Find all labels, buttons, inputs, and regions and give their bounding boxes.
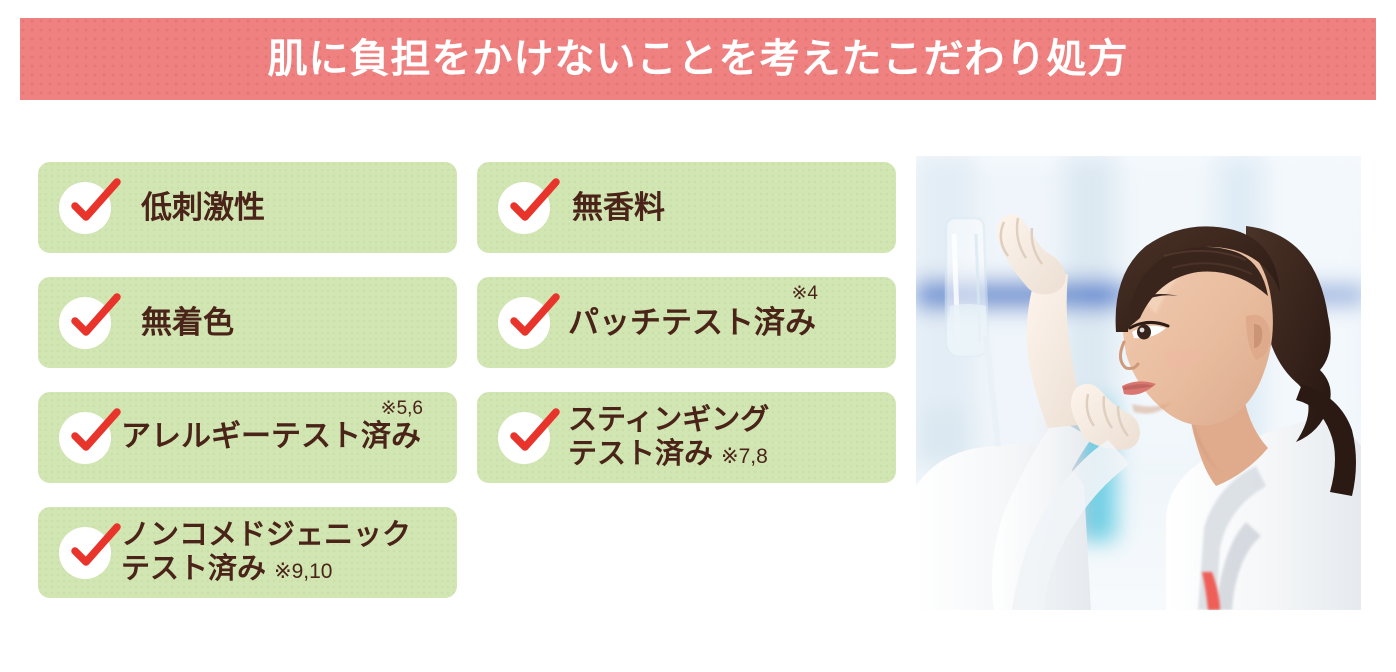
feature-item-noncomedogenic-tested: ノンコメドジェニック テスト済み※9,10 bbox=[38, 507, 457, 598]
feature-label: 無着色 bbox=[141, 305, 234, 340]
footnote-marker: ※9,10 bbox=[274, 560, 332, 583]
checkmark-icon bbox=[59, 182, 111, 234]
feature-item-low-irritant: 低刺激性 bbox=[38, 162, 457, 253]
feature-label: 無香料 bbox=[572, 190, 665, 225]
checkmark-icon bbox=[498, 412, 550, 464]
feature-item-colorant-free: 無着色 bbox=[38, 277, 457, 368]
lab-researcher-photo bbox=[916, 156, 1361, 610]
feature-label: ノンコメドジェニック テスト済み※9,10 bbox=[121, 519, 411, 585]
footnote-marker: ※7,8 bbox=[721, 445, 768, 468]
footnote-marker: ※5,6 bbox=[381, 398, 423, 420]
page-root: 肌に負担をかけないことを考えたこだわり処方 低刺激性 bbox=[0, 0, 1396, 672]
checkmark-icon bbox=[59, 297, 111, 349]
feature-item-fragrance-free: 無香料 bbox=[477, 162, 896, 253]
feature-list: 低刺激性 無香料 無着色 bbox=[38, 162, 894, 614]
feature-label: アレルギーテスト済み ※5,6 bbox=[121, 420, 421, 454]
feature-item-stinging-tested: スティンギング テスト済み※7,8 bbox=[477, 392, 896, 483]
feature-label: スティンギング テスト済み※7,8 bbox=[568, 404, 769, 470]
checkmark-icon bbox=[498, 297, 550, 349]
feature-label: 低刺激性 bbox=[141, 190, 265, 225]
feature-label: パッチテスト済み ※4 bbox=[568, 305, 816, 340]
footnote-marker: ※4 bbox=[792, 283, 819, 305]
page-title: 肌に負担をかけないことを考えたこだわり処方 bbox=[268, 39, 1129, 79]
checkmark-icon bbox=[498, 182, 550, 234]
feature-item-patch-tested: パッチテスト済み ※4 bbox=[477, 277, 896, 368]
header-banner: 肌に負担をかけないことを考えたこだわり処方 bbox=[20, 18, 1376, 100]
checkmark-icon bbox=[59, 527, 111, 579]
checkmark-icon bbox=[59, 412, 111, 464]
feature-item-allergy-tested: アレルギーテスト済み ※5,6 bbox=[38, 392, 457, 483]
